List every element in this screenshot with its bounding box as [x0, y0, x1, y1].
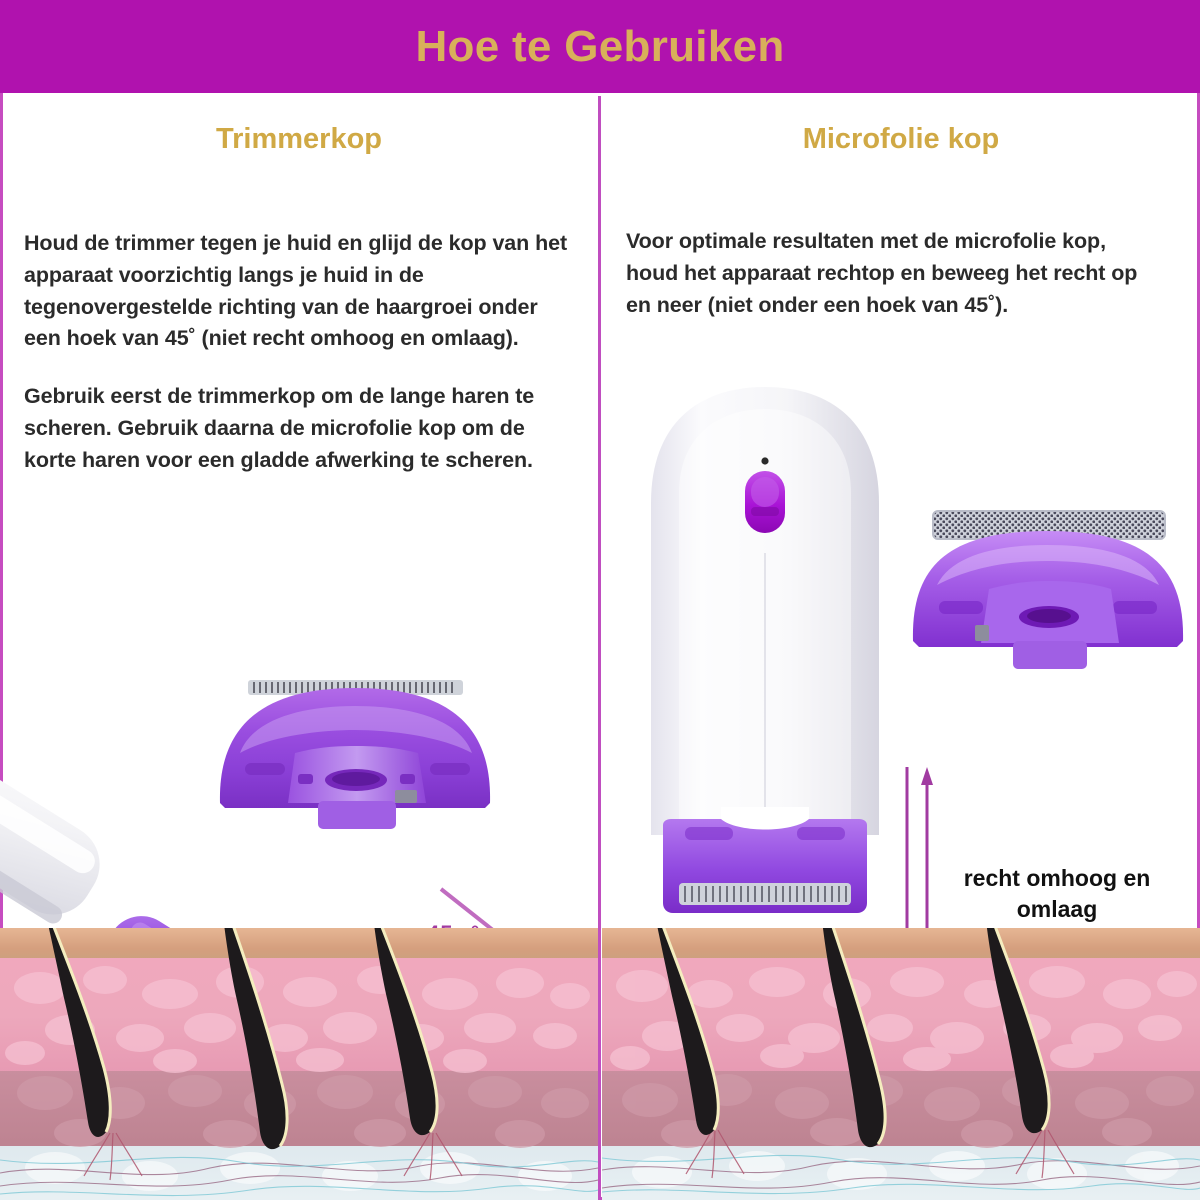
- motion-label: recht omhoog en omlaag: [932, 863, 1182, 925]
- column-divider: [598, 96, 601, 1200]
- skin-cross-section-right: [602, 928, 1200, 1200]
- column-title-microfoil: Microfolie kop: [602, 123, 1200, 156]
- trimmer-paragraph-1: Houd de trimmer tegen je huid en glijd d…: [24, 228, 580, 355]
- infographic-page: Hoe te Gebruiken Trimmerkop Houd de trim…: [0, 0, 1200, 1200]
- column-title-trimmer: Trimmerkop: [0, 123, 598, 156]
- column-body-microfoil: Voor optimale resultaten met de microfol…: [626, 226, 1146, 321]
- motion-label-line-2: omlaag: [932, 894, 1182, 925]
- page-header: Hoe te Gebruiken: [0, 0, 1200, 93]
- page-title: Hoe te Gebruiken: [415, 25, 784, 69]
- trimmer-paragraph-2: Gebruik eerst de trimmerkop om de lange …: [24, 381, 580, 476]
- microfoil-device-illustration: [637, 383, 897, 928]
- column-trimmer: Trimmerkop Houd de trimmer tegen je huid…: [0, 93, 598, 1200]
- skin-cross-section-left: [0, 928, 598, 1200]
- column-microfoil: Microfolie kop Voor optimale resultaten …: [602, 93, 1200, 1200]
- column-body-trimmer: Houd de trimmer tegen je huid en glijd d…: [24, 228, 580, 477]
- motion-label-line-1: recht omhoog en: [932, 863, 1182, 894]
- microfoil-paragraph-1: Voor optimale resultaten met de microfol…: [626, 226, 1146, 321]
- microfoil-head-illustration: [897, 493, 1197, 673]
